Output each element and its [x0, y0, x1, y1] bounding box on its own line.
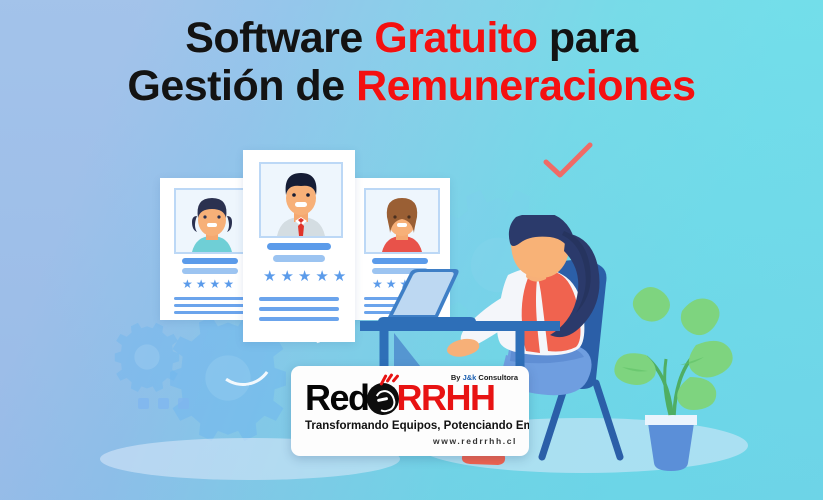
- banner-image: ★ ★ ★ ★ ★ ★ ★ ★: [0, 0, 823, 500]
- cv-text-line: [174, 311, 246, 314]
- cv-text-line: [259, 317, 339, 321]
- star-icon: ★: [182, 278, 193, 290]
- star-icon: ★: [196, 278, 207, 290]
- star-icon: ★: [298, 269, 311, 284]
- logo-wordmark: RedRRHH: [305, 380, 495, 416]
- cv-name-bar: [267, 243, 331, 250]
- title-highlight-2: Remuneraciones: [356, 62, 696, 110]
- handshake-circle-icon: [367, 383, 399, 415]
- title-text-1: Software: [185, 14, 374, 62]
- page-title: Software Gratuito para Gestión de Remune…: [0, 14, 823, 110]
- star-icon: ★: [280, 269, 293, 284]
- cv-subtitle-bar: [273, 255, 325, 262]
- logo-name-black: Red: [305, 377, 369, 418]
- star-icon: ★: [315, 269, 328, 284]
- background-gear-small: [112, 322, 182, 392]
- decorative-dots: [138, 398, 189, 409]
- title-text-3: Gestión de: [127, 62, 356, 110]
- check-icon: [540, 140, 596, 182]
- avatar: [174, 188, 250, 254]
- title-line2: Gestión de Remuneraciones: [0, 62, 823, 110]
- cv-name-bar: [182, 258, 238, 264]
- star-icon: ★: [210, 278, 221, 290]
- cv-rating-stars: ★ ★ ★ ★ ★: [263, 269, 346, 284]
- cv-subtitle-bar: [182, 268, 238, 274]
- logo-plate[interactable]: By J&k Consultora RedRRHH Transformando …: [291, 366, 529, 456]
- title-highlight-1: Gratuito: [374, 14, 537, 62]
- logo-website: www.redrrhh.cl: [433, 436, 517, 446]
- star-icon: ★: [263, 269, 276, 284]
- logo-tagline: Transformando Equipos, Potenciando Empre…: [305, 420, 529, 432]
- avatar: [259, 162, 343, 238]
- cv-text-line: [259, 307, 339, 311]
- cv-text-line: [259, 297, 339, 301]
- title-text-2: para: [537, 14, 637, 62]
- cv-card-center[interactable]: ★ ★ ★ ★ ★: [243, 150, 355, 342]
- avatar-man-tie: [261, 164, 341, 236]
- avatar-woman-dark-hair: [176, 190, 248, 252]
- title-line1: Software Gratuito para: [185, 14, 638, 62]
- cv-rating-stars: ★ ★ ★ ★: [182, 278, 234, 290]
- logo-name-red: RRHH: [397, 377, 495, 418]
- star-icon: ★: [333, 269, 346, 284]
- cv-text-line: [174, 297, 246, 300]
- cv-text-line: [174, 304, 246, 307]
- star-icon: ★: [223, 278, 234, 290]
